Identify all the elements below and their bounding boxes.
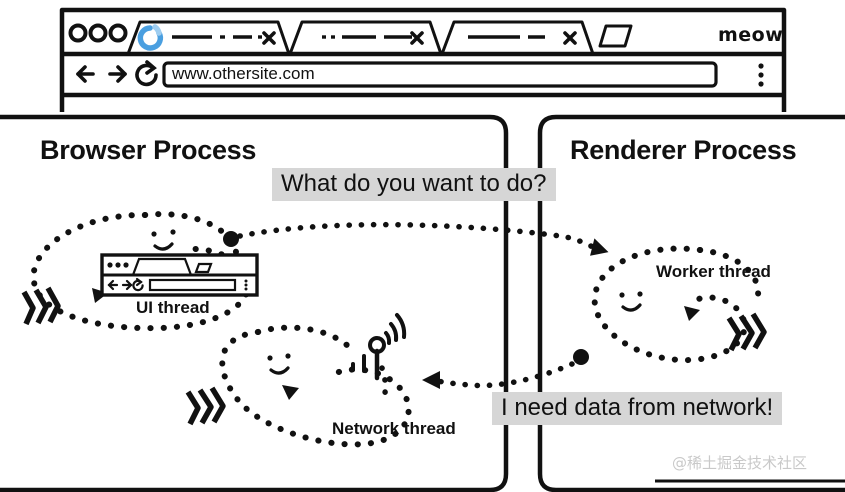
renderer-process-panel	[540, 117, 845, 490]
ui-thread-label: UI thread	[136, 298, 210, 318]
network-thread-motion-lines	[188, 388, 223, 424]
watermark-label: @稀土掘金技术社区	[672, 452, 807, 473]
nav-forward-icon[interactable]	[110, 67, 125, 81]
network-thread-label: Network thread	[332, 419, 456, 439]
browser-window-frame	[62, 10, 784, 112]
network-thread-face	[267, 353, 290, 373]
tab-2-close-icon	[412, 33, 422, 43]
nav-reload-icon[interactable]	[137, 62, 156, 84]
browser-menu-icon[interactable]	[758, 63, 763, 86]
browser-process-title: Browser Process	[40, 135, 256, 166]
window-controls[interactable]	[71, 26, 126, 41]
new-tab-button[interactable]	[600, 26, 631, 46]
worker-thread-label: Worker thread	[656, 262, 771, 282]
tab-1[interactable]	[128, 22, 289, 54]
tab-3-close-icon	[565, 33, 575, 43]
browser-brand-label: meow	[718, 24, 783, 46]
caption-what-do-you-want: What do you want to do?	[272, 168, 556, 201]
tab-1-close-icon	[264, 33, 274, 43]
worker-thread-face	[619, 291, 642, 310]
spinner-icon	[140, 27, 160, 48]
nav-back-icon[interactable]	[78, 67, 93, 81]
message-origin-dot	[223, 231, 239, 247]
address-bar-value[interactable]: www.othersite.com	[172, 64, 315, 84]
caption-i-need-data: I need data from network!	[492, 392, 782, 425]
renderer-process-title: Renderer Process	[570, 135, 796, 166]
ui-thread-motion-lines	[24, 288, 58, 324]
message-origin-dot	[573, 349, 589, 365]
diagram-canvas: .dotloop{fill:none;stroke:#111;stroke-wi…	[0, 0, 845, 492]
mini-browser-icon	[102, 255, 257, 295]
network-dotted-tail	[382, 368, 385, 400]
antenna-signal-icon	[353, 315, 404, 378]
message-arrow-ui-to-worker	[223, 225, 611, 260]
ui-thread-face	[151, 229, 175, 249]
